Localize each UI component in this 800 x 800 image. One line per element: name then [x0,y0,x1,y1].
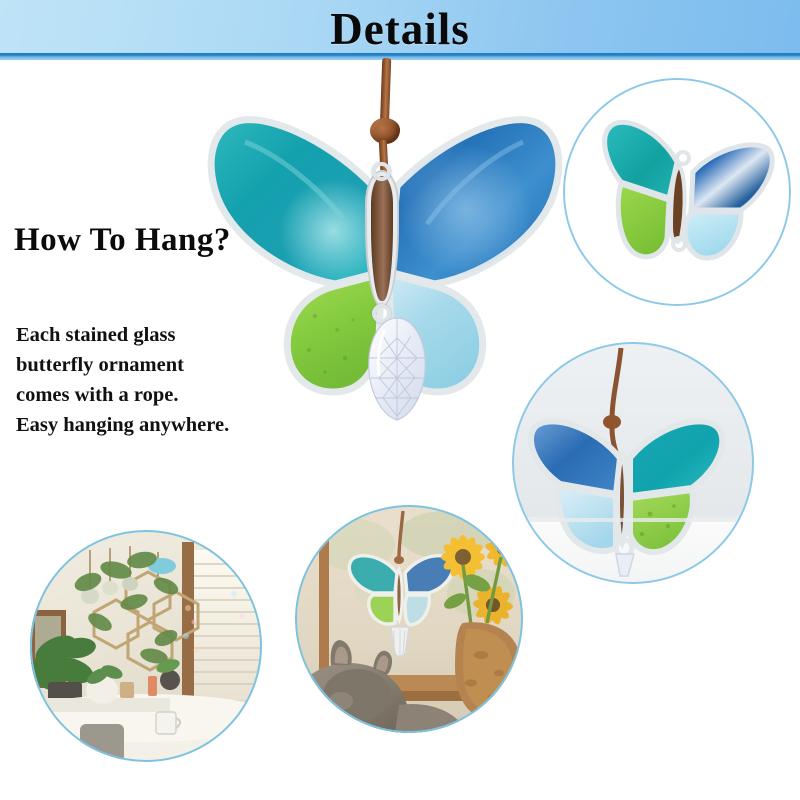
interior-plants-image [30,530,262,762]
product-detail-page: Details How To Hang? Each stained glass … [0,0,800,800]
header-banner: Details [0,0,800,60]
page-title: Details [0,0,800,58]
inset-butterfly-hanging[interactable] [512,342,754,584]
butterfly-flat-image [563,78,791,306]
wing-upper-right [389,120,559,284]
wing-upper-left [211,120,381,284]
inset-butterfly-flat[interactable] [563,78,791,306]
crystal-prism [363,316,431,422]
butterfly-hanging-image [512,342,754,584]
window-cat-sunflower-image [295,505,523,733]
top-jump-ring [372,162,391,181]
inset-window-cat-scene[interactable] [295,505,523,733]
inset-interior-scene[interactable] [30,530,262,762]
